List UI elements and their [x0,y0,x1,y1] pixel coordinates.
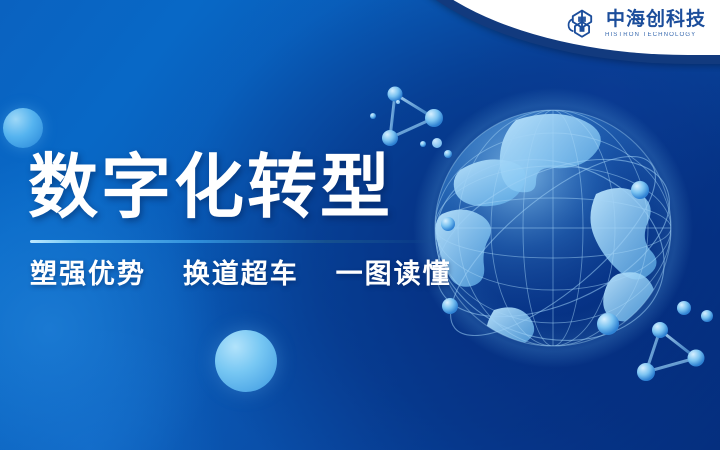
headline-block: 数字化转型 塑强优势 换道超车 一图读懂 [28,152,448,291]
subtitle-part-1: 塑强优势 [30,259,146,290]
page-subtitle: 塑强优势 换道超车 一图读懂 [30,252,448,291]
gradient-sphere-dot [432,138,442,148]
gradient-sphere-large [215,330,277,392]
brand-logo[interactable]: 中海创科技 HISTRON TECHNOLOGY [565,7,706,41]
brand-logo-text: 中海创科技 HISTRON TECHNOLOGY [606,10,706,38]
histron-emblem-icon [565,7,599,41]
page-title: 数字化转型 [28,152,448,222]
brand-name-en: HISTRON TECHNOLOGY [605,32,707,38]
background-glow-bottom-left [0,330,240,450]
gradient-sphere-small [3,108,43,148]
gradient-sphere-dot [396,100,400,104]
subtitle-part-3: 一图读懂 [336,259,452,290]
subtitle-part-2: 换道超车 [183,259,299,290]
promo-banner: 数字化转型 塑强优势 换道超车 一图读懂 [0,0,720,450]
title-divider [30,240,442,243]
brand-name-cn: 中海创科技 [606,10,706,29]
